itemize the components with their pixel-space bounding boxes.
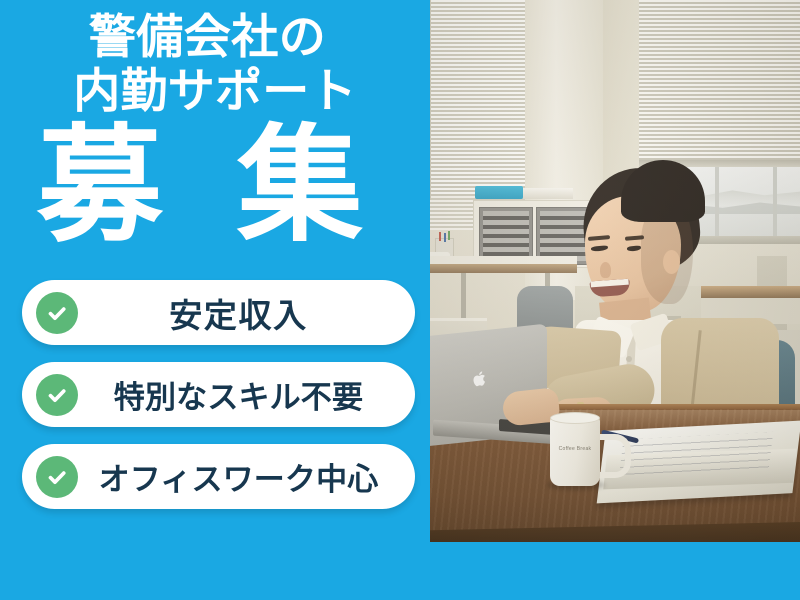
person-nose bbox=[600, 262, 611, 278]
left-blue-panel: 警備会社の 内勤サポート 募 集 安定収入 特別なスキル不要 bbox=[0, 0, 430, 600]
apple-logo-icon bbox=[469, 367, 489, 391]
window-mullion bbox=[773, 167, 777, 241]
handwritten-lines bbox=[619, 432, 773, 478]
blue-binder bbox=[475, 186, 523, 199]
mug-rim bbox=[550, 412, 600, 424]
feature-pill-label: 安定収入 bbox=[78, 289, 415, 337]
window-blinds-left-icon bbox=[427, 0, 527, 196]
office-worker-photo: Coffee Break bbox=[425, 0, 800, 542]
person-ear bbox=[663, 250, 680, 274]
back-desk-right bbox=[701, 286, 800, 298]
check-circle-icon bbox=[36, 456, 78, 498]
person-teeth bbox=[590, 279, 628, 288]
feature-pill-label: 特別なスキル不要 bbox=[78, 372, 415, 417]
photo-scene: Coffee Break bbox=[425, 0, 800, 542]
back-desk bbox=[425, 264, 577, 273]
headline-line-2: 内勤サポート bbox=[0, 68, 430, 115]
check-circle-icon bbox=[36, 292, 78, 334]
headline-line-1: 警備会社の bbox=[0, 14, 415, 61]
window-mullion bbox=[715, 167, 719, 241]
shirt-button bbox=[626, 356, 632, 362]
headline-line-3-boshu: 募 集 bbox=[0, 122, 415, 251]
window-blinds-right-icon bbox=[639, 0, 800, 163]
check-circle-icon bbox=[36, 374, 78, 416]
feature-pill-list: 安定収入 特別なスキル不要 オフィスワーク中心 bbox=[22, 280, 415, 509]
recruitment-banner: Coffee Break 警備会社の 内勤サポート 募 集 安定収入 bbox=[0, 0, 800, 600]
feature-pill-label: オフィスワーク中心 bbox=[78, 454, 415, 499]
mug-label: Coffee Break bbox=[553, 446, 597, 452]
desk-leg bbox=[461, 273, 466, 321]
feature-pill-office-work[interactable]: オフィスワーク中心 bbox=[22, 444, 415, 509]
paper-stack-on-shelf bbox=[523, 188, 573, 199]
feature-pill-stable-income[interactable]: 安定収入 bbox=[22, 280, 415, 345]
feature-pill-no-special-skills[interactable]: 特別なスキル不要 bbox=[22, 362, 415, 427]
